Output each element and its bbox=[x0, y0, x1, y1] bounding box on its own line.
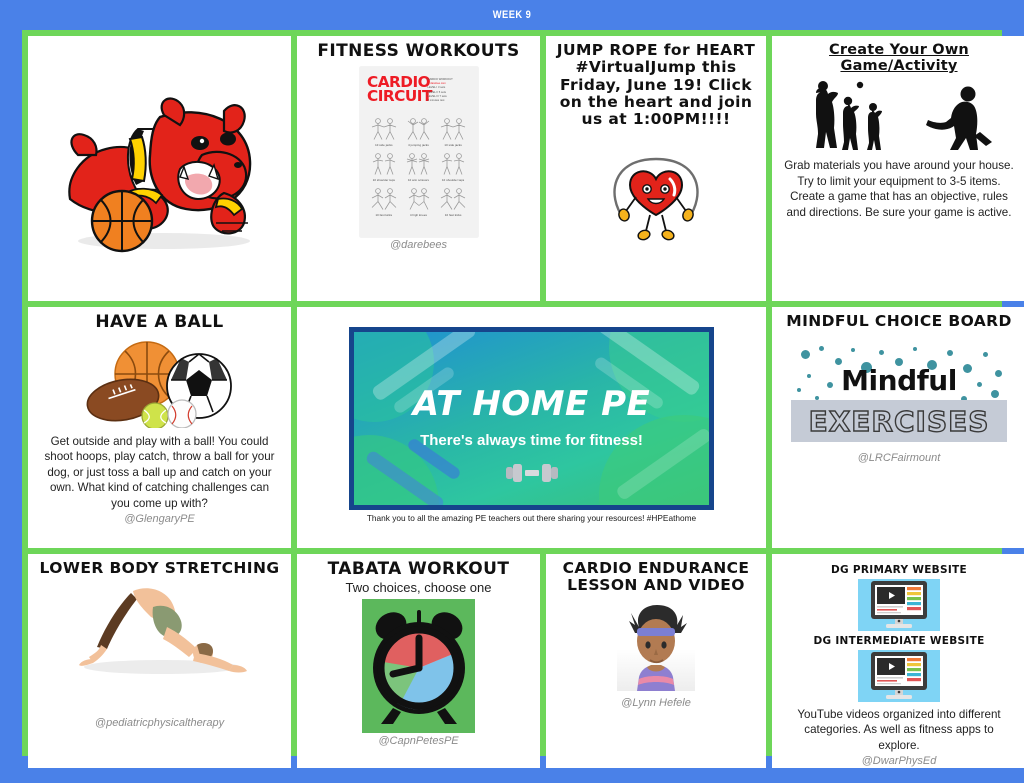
cell-jump-rope[interactable]: JUMP ROPE for HEART #VirtualJump this Fr… bbox=[546, 36, 766, 301]
poster-exercise: 10 fast kicks bbox=[437, 186, 470, 217]
poster-exercise-grid: 10 side jacks 4 jumping jacks 10 side ja… bbox=[368, 116, 470, 217]
dumbbell-icon bbox=[501, 460, 563, 491]
exercises-word: EXERCISES bbox=[791, 405, 1007, 438]
poster-side-notes: CARDIO WORKOUT © darebee.com LEVEL I 3 s… bbox=[428, 78, 470, 103]
cell-body: YouTube videos organized into different … bbox=[780, 707, 1018, 753]
poster-rest: 2 minutes rest bbox=[428, 99, 470, 103]
cell-cardio-endurance[interactable]: CARDIO ENDURANCE LESSON AND VIDEO @Lynn … bbox=[546, 554, 766, 768]
sports-balls-icon bbox=[75, 336, 245, 428]
jumping-heart-icon[interactable] bbox=[600, 135, 712, 252]
mindful-exercises-image: Mindful EXERCISES bbox=[791, 344, 1007, 442]
cell-at-home-pe[interactable]: AT HOME PE There's always time for fitne… bbox=[297, 307, 766, 548]
choice-board-grid: FITNESS WORKOUTS CARDIO CIRCUIT CARDIO W… bbox=[22, 30, 1002, 756]
poster-exercise: 4 jumping jacks bbox=[402, 116, 435, 147]
athlete-avatar-icon bbox=[617, 599, 695, 691]
page-header: WEEK 9 bbox=[77, 0, 947, 30]
cell-fitness-workouts[interactable]: FITNESS WORKOUTS CARDIO CIRCUIT CARDIO W… bbox=[297, 36, 540, 301]
cell-credit: @LRCFairmount bbox=[858, 452, 941, 464]
poster-exercise: 10 side jacks bbox=[368, 116, 401, 147]
cell-title: Create Your Own Game/Activity bbox=[780, 42, 1018, 74]
banner-subtitle: There's always time for fitness! bbox=[354, 432, 709, 449]
intermediate-website-link[interactable] bbox=[858, 650, 940, 702]
bulldog-icon bbox=[36, 42, 283, 295]
cell-credit: @CapnPetesPE bbox=[378, 735, 458, 747]
cell-credit: @GlengaryPE bbox=[124, 513, 194, 525]
cell-mascot[interactable] bbox=[28, 36, 291, 301]
cell-title: JUMP ROPE for HEART #VirtualJump this Fr… bbox=[554, 42, 758, 129]
poster-exercise: 10 fast kicks bbox=[368, 186, 401, 217]
banner-title: AT HOME PE bbox=[354, 384, 709, 424]
cell-have-a-ball[interactable]: HAVE A BALL Get out bbox=[28, 307, 291, 548]
cell-credit: @darebees bbox=[390, 239, 447, 251]
alarm-clock-icon bbox=[362, 599, 475, 733]
week-label: WEEK 9 bbox=[493, 9, 531, 21]
downward-dog-icon bbox=[67, 583, 253, 682]
cell-lower-body-stretching[interactable]: LOWER BODY STRETCHING @ bbox=[28, 554, 291, 768]
cell-body: Get outside and play with a ball! You co… bbox=[36, 434, 283, 511]
cell-title: CARDIO ENDURANCE LESSON AND VIDEO bbox=[554, 560, 758, 595]
mindful-word: Mindful bbox=[791, 364, 1007, 397]
cell-title: FITNESS WORKOUTS bbox=[317, 42, 519, 61]
poster-exercise: 10 shoulder taps bbox=[437, 151, 470, 182]
at-home-pe-banner[interactable]: AT HOME PE There's always time for fitne… bbox=[349, 327, 714, 510]
cell-title: TABATA WORKOUT bbox=[328, 560, 510, 579]
cell-credit: Thank you to all the amazing PE teachers… bbox=[367, 513, 696, 523]
cell-credit: @DwarPhysEd bbox=[862, 755, 937, 767]
intermediate-website-title: DG INTERMEDIATE WEBSITE bbox=[813, 635, 984, 647]
cell-credit: @pediatricphysicaltherapy bbox=[95, 717, 224, 729]
poster-exercise: 10 side jacks bbox=[437, 116, 470, 147]
family-playing-icon bbox=[804, 80, 994, 152]
primary-website-title: DG PRIMARY WEBSITE bbox=[831, 564, 967, 576]
cardio-circuit-poster: CARDIO CIRCUIT CARDIO WORKOUT © darebee.… bbox=[360, 67, 478, 237]
cell-title: HAVE A BALL bbox=[95, 313, 223, 332]
cell-body: Grab materials you have around your hous… bbox=[780, 158, 1018, 220]
poster-exercise: 10 arm scissors bbox=[402, 151, 435, 182]
cell-title: MINDFUL CHOICE BOARD bbox=[786, 313, 1012, 330]
cell-tabata-workout[interactable]: TABATA WORKOUT Two choices, choose one bbox=[297, 554, 540, 768]
poster-exercise: 4 high knees bbox=[402, 186, 435, 217]
cell-mindful-choice-board[interactable]: MINDFUL CHOICE BOARD Mindful EXERCIS bbox=[772, 307, 1024, 548]
poster-exercise: 10 shoulder taps bbox=[368, 151, 401, 182]
cell-websites[interactable]: DG PRIMARY WEBSITE DG INTERMEDIATE WE bbox=[772, 554, 1024, 768]
cell-subtitle: Two choices, choose one bbox=[346, 580, 492, 595]
cell-title: LOWER BODY STRETCHING bbox=[40, 560, 280, 577]
primary-website-link[interactable] bbox=[858, 579, 940, 631]
cell-create-game[interactable]: Create Your Own Game/Activity Grab mater… bbox=[772, 36, 1024, 301]
cell-credit: @Lynn Hefele bbox=[621, 697, 691, 709]
